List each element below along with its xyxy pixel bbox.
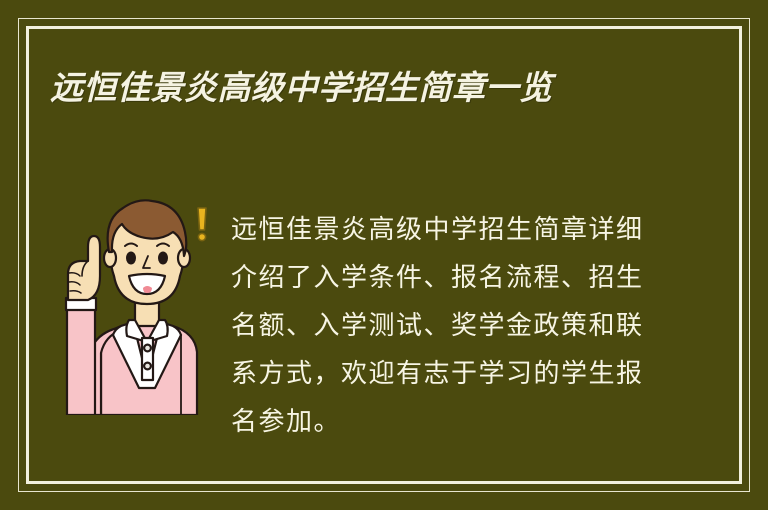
- exclamation-mark-icon: [198, 208, 206, 241]
- page-title: 远恒佳景炎高级中学招生简章一览: [50, 63, 650, 113]
- poster-canvas: 远恒佳景炎高级中学招生简章一览: [0, 0, 768, 510]
- eye-right: [158, 252, 168, 265]
- sweater-forearm: [67, 308, 95, 415]
- shirt-button-bottom: [144, 363, 151, 370]
- eye-left: [126, 252, 136, 265]
- description-paragraph: 远恒佳景炎高级中学招生简章详细介绍了入学条件、报名流程、招生名额、入学测试、奖学…: [231, 206, 656, 446]
- cartoon-character-illustration: [55, 190, 215, 415]
- shirt-button-top: [144, 345, 151, 352]
